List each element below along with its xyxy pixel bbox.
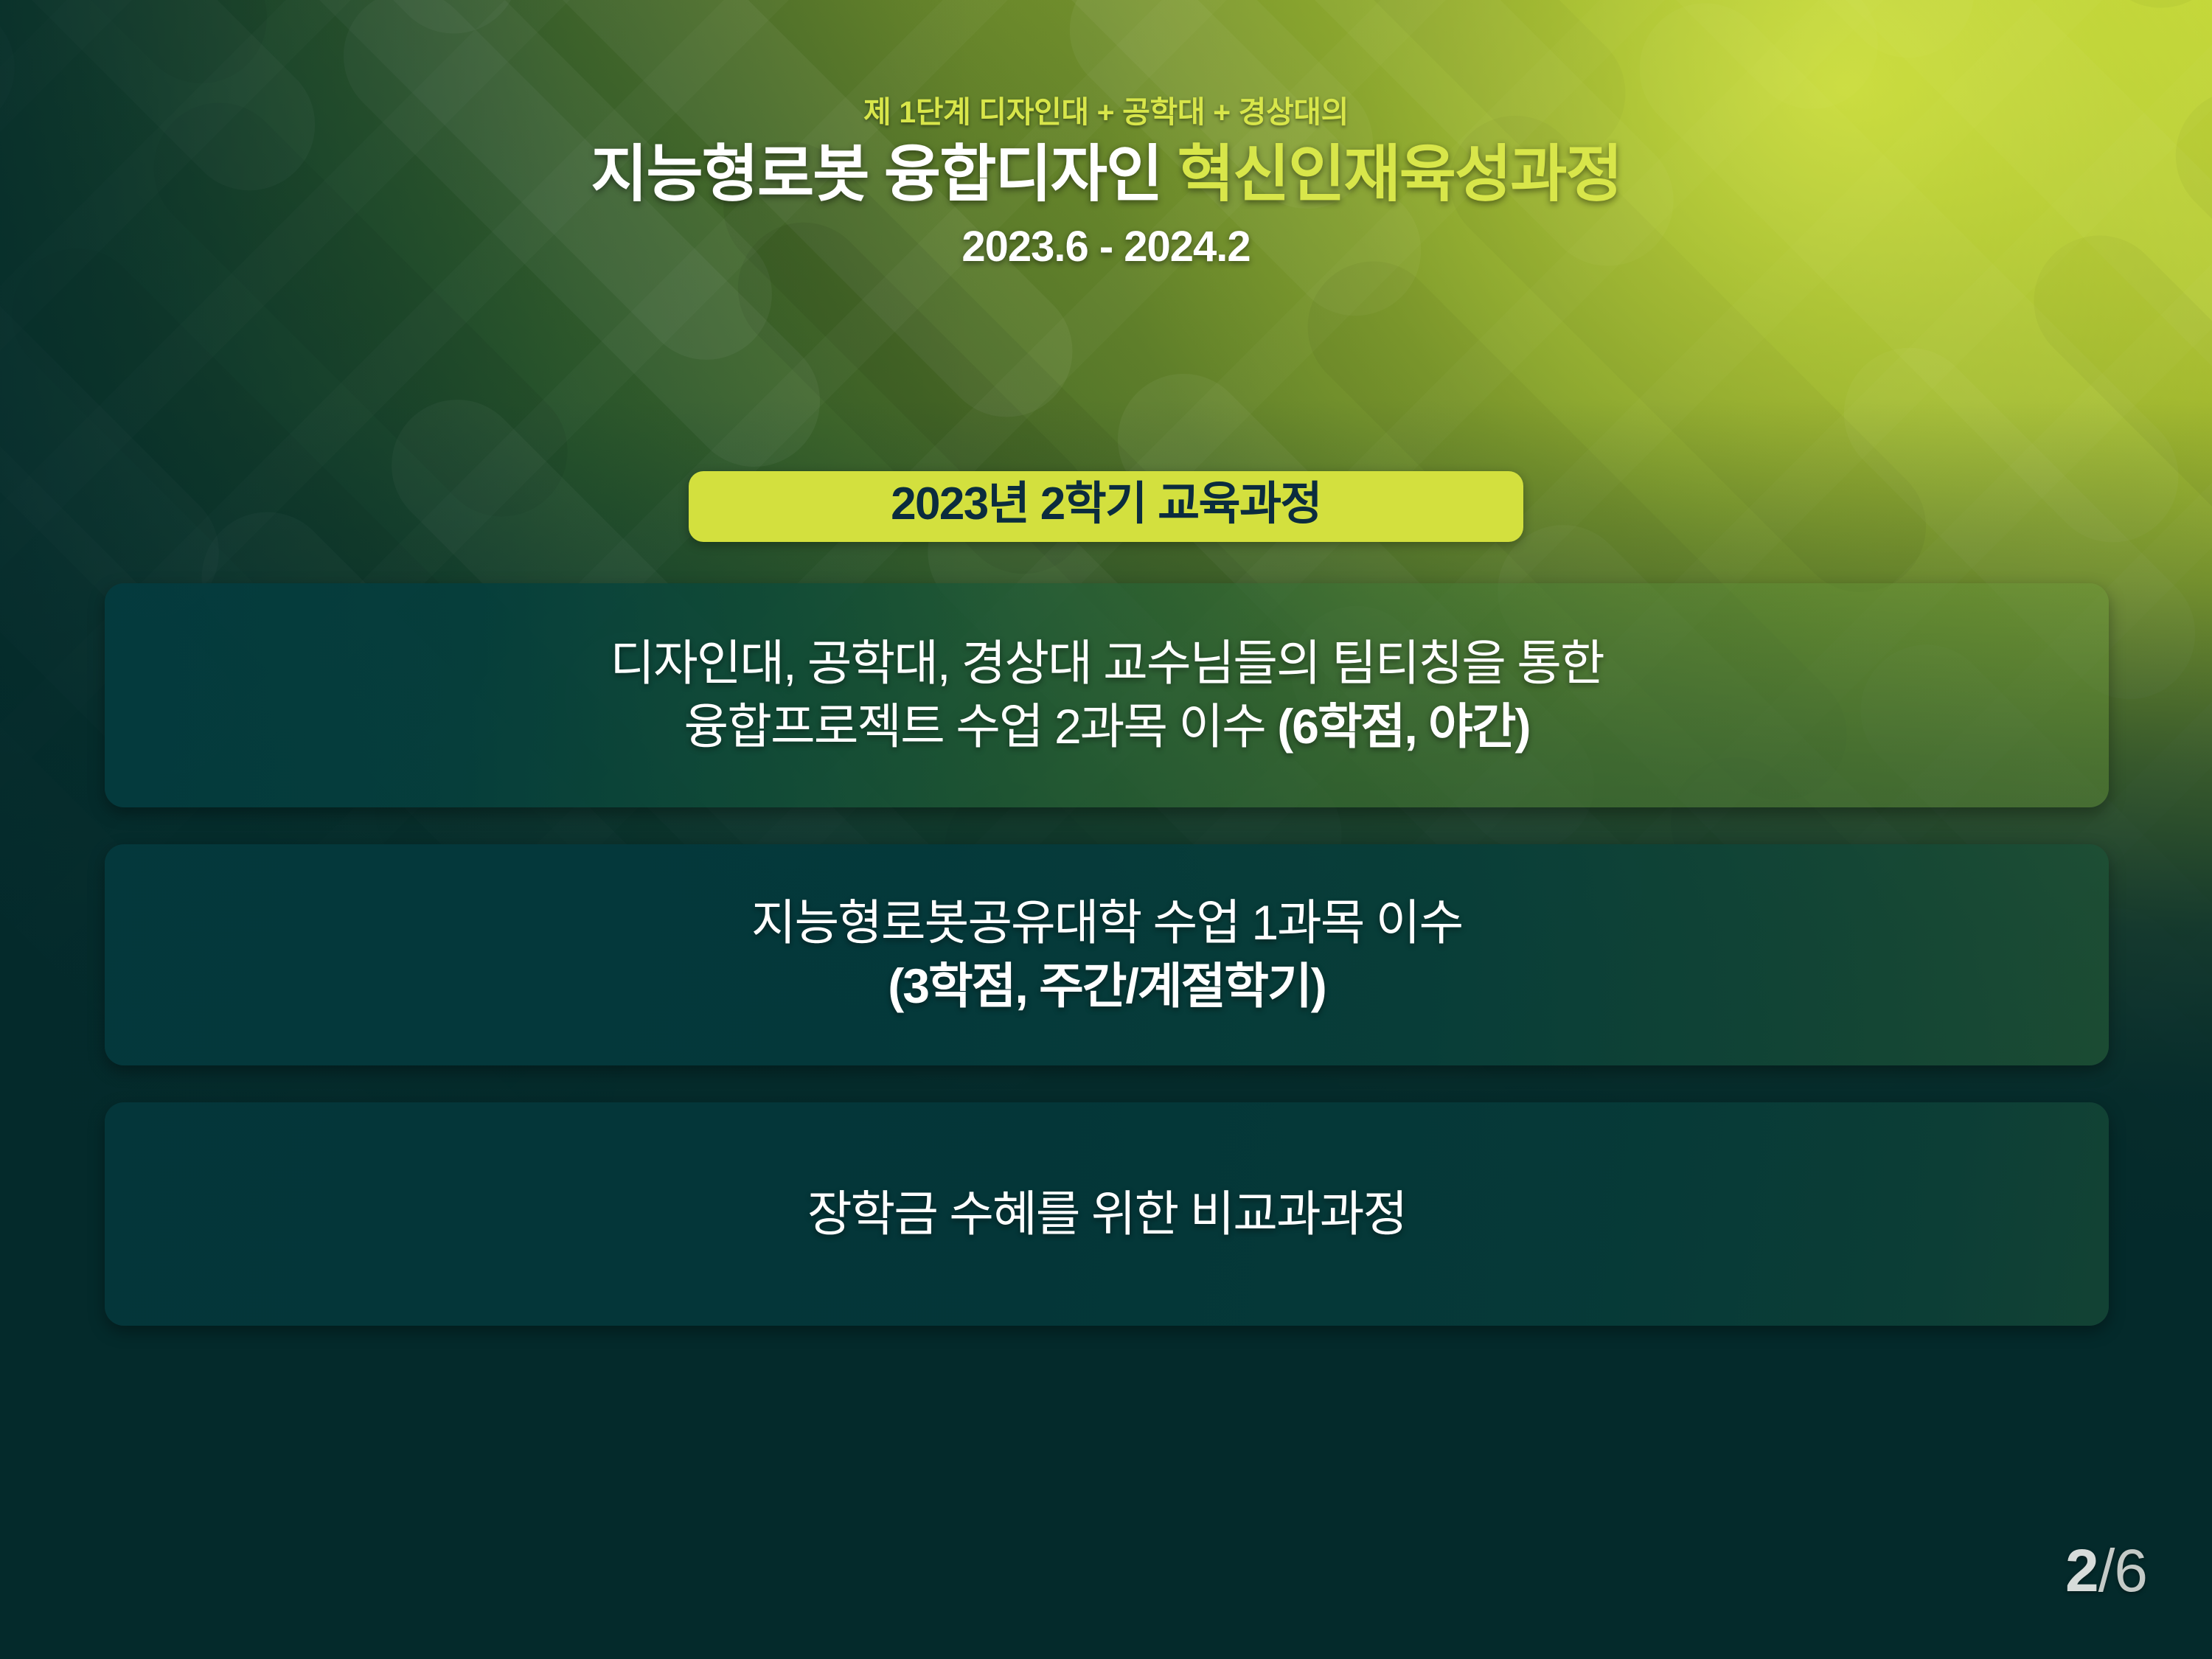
slide-header: 제 1단계 디자인대 + 공학대 + 경상대의 지능형로봇 융합디자인 혁신인재… (0, 87, 2212, 271)
card-line-bold: (3학점, 주간/계절학기) (751, 955, 1463, 1018)
card-line: 디자인대, 공학대, 경상대 교수님들의 팀티칭을 통한 (610, 632, 1603, 695)
card-text: 장학금 수혜를 위한 비교과과정 (763, 1183, 1450, 1246)
title-plain-part: 지능형로봇 융합디자인 (591, 139, 1161, 209)
page-title: 지능형로봇 융합디자인 혁신인재육성과정 (0, 142, 2212, 207)
date-range: 2023.6 - 2024.2 (0, 222, 2212, 271)
card-line-plain: 융합프로젝트 수업 2과목 이수 (684, 699, 1278, 754)
presentation-slide: 제 1단계 디자인대 + 공학대 + 경상대의 지능형로봇 융합디자인 혁신인재… (0, 0, 2212, 1659)
page-number: 2/6 (2065, 1537, 2147, 1606)
card-line: 장학금 수혜를 위한 비교과과정 (807, 1183, 1406, 1246)
header-kicker: 제 1단계 디자인대 + 공학대 + 경상대의 (0, 87, 2212, 131)
page-number-total: 6 (2114, 1537, 2147, 1604)
page-number-current: 2 (2065, 1537, 2098, 1604)
card-line-bold: (6학점, 야간) (1277, 699, 1529, 754)
curriculum-card: 장학금 수혜를 위한 비교과과정 (105, 1102, 2109, 1326)
card-line: 지능형로봇공유대학 수업 1과목 이수 (751, 891, 1463, 955)
section-badge: 2023년 2학기 교육과정 (689, 471, 1523, 542)
curriculum-card: 디자인대, 공학대, 경상대 교수님들의 팀티칭을 통한 융합프로젝트 수업 2… (105, 583, 2109, 807)
section-badge-wrapper: 2023년 2학기 교육과정 (0, 471, 2212, 542)
page-number-separator: / (2098, 1537, 2115, 1604)
title-highlight-part: 혁신인재육성과정 (1178, 139, 1621, 209)
card-line: 융합프로젝트 수업 2과목 이수 (6학점, 야간) (610, 695, 1603, 759)
card-text: 지능형로봇공유대학 수업 1과목 이수 (3학점, 주간/계절학기) (707, 891, 1507, 1018)
card-text: 디자인대, 공학대, 경상대 교수님들의 팀티칭을 통한 융합프로젝트 수업 2… (566, 632, 1647, 759)
curriculum-card: 지능형로봇공유대학 수업 1과목 이수 (3학점, 주간/계절학기) (105, 844, 2109, 1065)
card-list: 디자인대, 공학대, 경상대 교수님들의 팀티칭을 통한 융합프로젝트 수업 2… (105, 583, 2109, 1326)
